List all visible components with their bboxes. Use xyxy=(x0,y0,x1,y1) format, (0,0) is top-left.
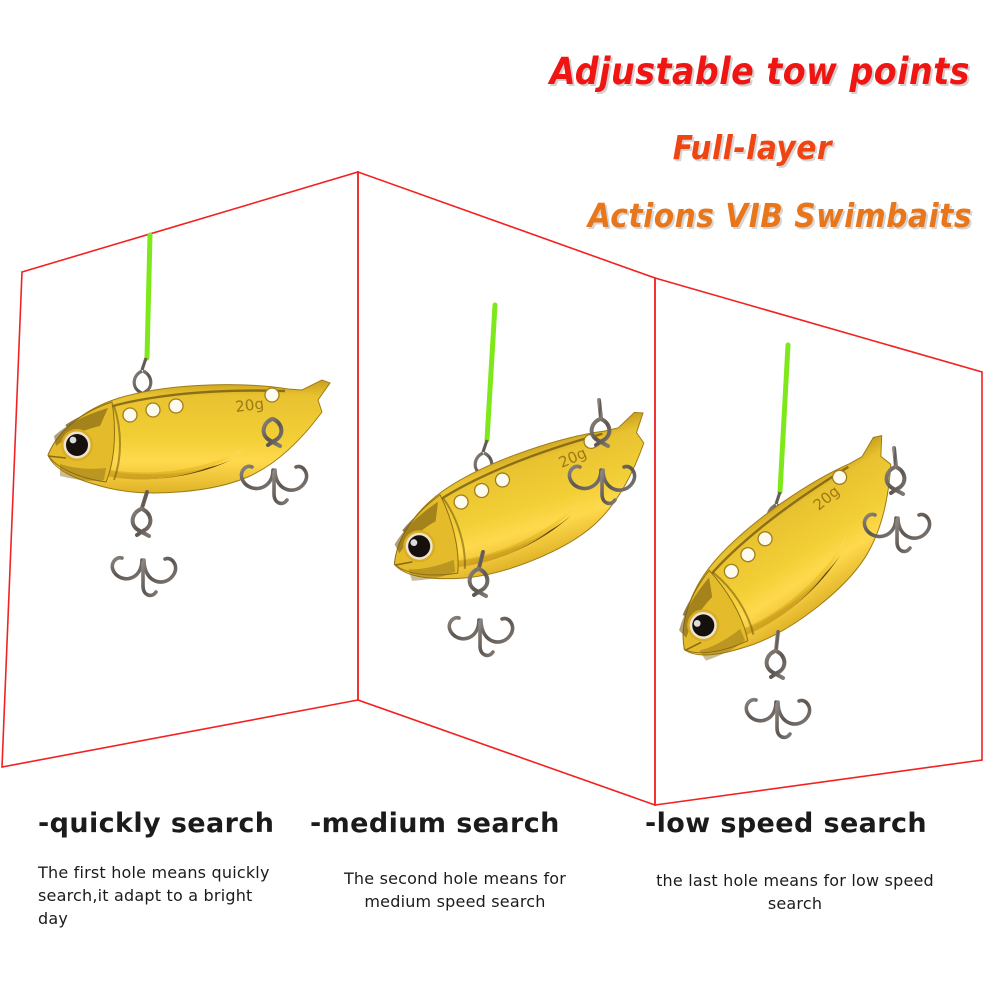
rear-attachment-hole xyxy=(265,388,279,402)
tow-hole-1 xyxy=(123,408,137,422)
caption-quickly-search: -quickly search The first hole means qui… xyxy=(38,808,274,931)
headline-line-3: Actions VIB Swimbaits xyxy=(588,196,972,235)
lure-medium-search: 20g xyxy=(375,300,675,670)
caption-medium-search: -medium search The second hole means for… xyxy=(310,808,600,913)
lure-eye xyxy=(61,429,93,461)
fishing-line xyxy=(487,305,495,440)
fishing-line xyxy=(147,235,150,358)
caption-body: The second hole means for medium speed s… xyxy=(310,867,600,913)
product-infographic: Adjustable tow points Full-layer Actions… xyxy=(0,0,1000,1000)
fishing-line xyxy=(780,345,788,492)
tow-hole-2 xyxy=(146,403,160,417)
treble-hook-belly xyxy=(112,492,175,595)
caption-low-speed-search: -low speed search the last hole means fo… xyxy=(645,808,945,915)
headline-line-2: Full-layer xyxy=(673,128,832,167)
caption-body: the last hole means for low speed search xyxy=(645,869,945,915)
lure-low-speed-search: 20g xyxy=(668,340,988,760)
lure-body: 20g xyxy=(375,410,675,600)
lure-body: 20g xyxy=(48,380,330,493)
treble-hook-belly xyxy=(746,632,809,737)
caption-body: The first hole means quickly search,it a… xyxy=(38,861,273,931)
tow-hole-3 xyxy=(169,399,183,413)
caption-title: -quickly search xyxy=(38,808,274,839)
weight-stamp: 20g xyxy=(234,395,265,416)
headline-line-1: Adjustable tow points xyxy=(550,50,970,93)
lure-quickly-search: 20g xyxy=(30,230,360,600)
caption-title: -medium search xyxy=(310,808,600,839)
caption-title: -low speed search xyxy=(645,808,945,839)
